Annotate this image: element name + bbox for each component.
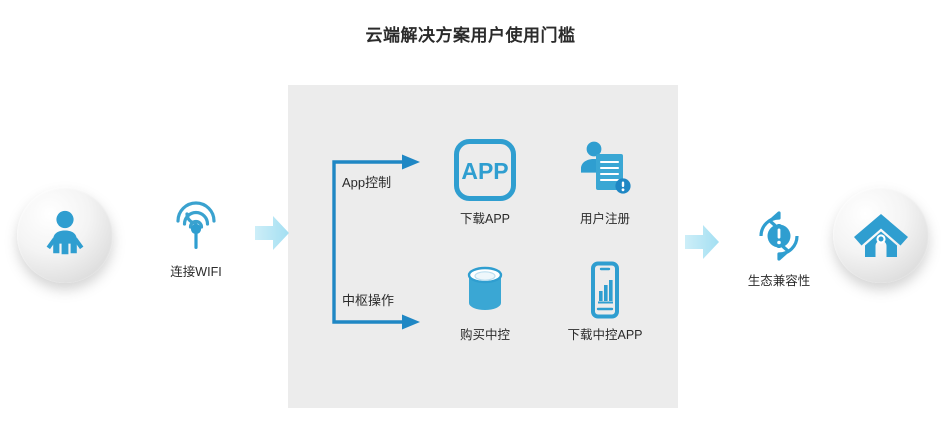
branch-label-app-control: App控制 [342, 172, 391, 191]
flow-arrow-right [685, 224, 719, 265]
step-eco-compatibility[interactable]: 生态兼容性 [724, 208, 834, 289]
page-title: 云端解决方案用户使用门槛 [0, 21, 941, 46]
start-person-badge [17, 187, 113, 283]
step-download-app[interactable]: APP 下载APP [438, 137, 532, 227]
right-arrow-icon [685, 224, 719, 260]
step-download-hub-app-label: 下载中控APP [567, 324, 642, 343]
app-icon-text: APP [461, 158, 508, 184]
step-user-register[interactable]: 用户注册 [558, 137, 652, 227]
step-download-app-label: 下载APP [460, 208, 510, 227]
step-eco-compatibility-label: 生态兼容性 [748, 270, 811, 289]
phone-chart-icon [576, 261, 634, 319]
smart-hub-icon [456, 261, 514, 319]
user-document-icon [572, 137, 638, 203]
step-download-hub-app[interactable]: 下载中控APP [546, 261, 664, 343]
compatibility-warning-icon [751, 208, 807, 264]
step-buy-hub[interactable]: 购买中控 [438, 261, 532, 343]
app-square-icon: APP [452, 137, 518, 203]
house-icon [852, 206, 910, 264]
diagram-canvas: 云端解决方案用户使用门槛 连接WIFI [0, 0, 941, 424]
panel-background [288, 85, 678, 408]
right-arrow-icon [255, 215, 289, 251]
person-icon [36, 206, 94, 264]
branch-label-hub-control: 中枢操作 [342, 290, 394, 309]
end-house-badge [833, 187, 929, 283]
step-user-register-label: 用户注册 [580, 208, 630, 227]
flow-arrow-left [255, 215, 289, 256]
step-connect-wifi-label: 连接WIFI [170, 261, 221, 280]
wifi-icon [165, 193, 227, 255]
step-buy-hub-label: 购买中控 [460, 324, 510, 343]
step-connect-wifi[interactable]: 连接WIFI [152, 193, 240, 280]
